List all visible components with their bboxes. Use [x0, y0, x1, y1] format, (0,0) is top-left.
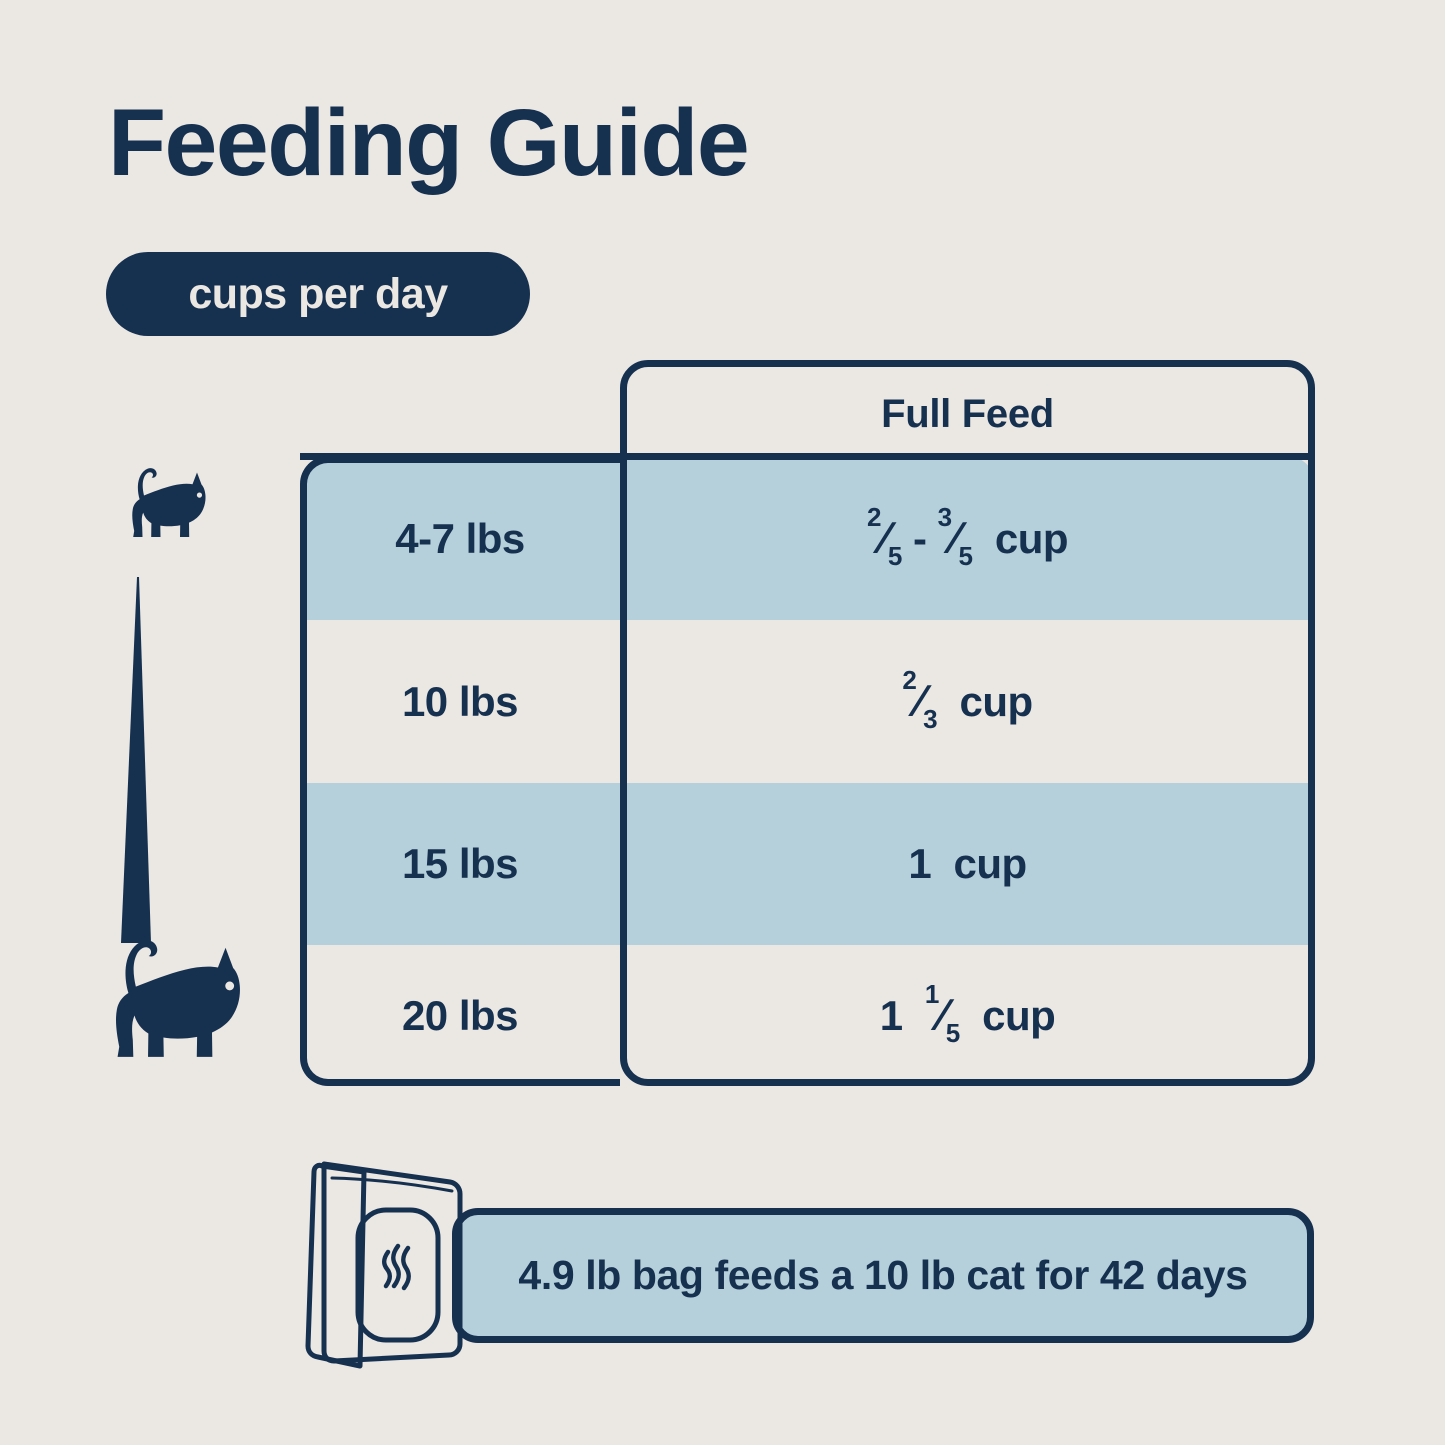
table-cell-weight-1: 10 lbs	[300, 620, 620, 783]
table-cell-weight-3: 20 lbs	[300, 945, 620, 1086]
whole-number: 1	[880, 992, 903, 1039]
size-wedge-icon	[115, 577, 161, 952]
table-cell-feed-3: 1 1⁄5 cup	[620, 945, 1315, 1086]
fraction-value-0: 2⁄5 - 3⁄5 cup	[867, 514, 1068, 564]
table-cell-weight-2: 15 lbs	[300, 783, 620, 945]
fraction-numerator: 1	[925, 979, 939, 1009]
fraction-slash-2: ⁄	[952, 514, 959, 563]
fraction-value-1: 2⁄3 cup	[902, 677, 1032, 727]
range-dash: -	[913, 515, 927, 562]
fraction-value-2: 1 cup	[908, 840, 1026, 888]
bag-duration-text: 4.9 lb bag feeds a 10 lb cat for 42 days	[518, 1252, 1247, 1299]
feeding-guide-infographic: Feeding Guide cups per day	[0, 0, 1445, 1445]
column-header-label: Full Feed	[881, 392, 1054, 437]
fraction-value-3: 1 1⁄5 cup	[880, 991, 1056, 1041]
fraction-numerator-2: 3	[938, 502, 952, 532]
fraction-slash: ⁄	[881, 514, 888, 563]
feed-unit: cup	[982, 992, 1055, 1039]
units-badge: cups per day	[106, 252, 530, 336]
feed-unit: cup	[960, 678, 1033, 725]
cat-walking-icon-small	[113, 465, 213, 548]
page-title: Feeding Guide	[108, 96, 748, 191]
fraction-numerator: 2	[867, 502, 881, 532]
table-cell-feed-2: 1 cup	[620, 783, 1315, 945]
feed-unit: cup	[954, 840, 1027, 887]
bag-duration-banner: 4.9 lb bag feeds a 10 lb cat for 42 days	[452, 1208, 1314, 1343]
feed-unit: cup	[995, 515, 1068, 562]
whole-number: 1	[908, 840, 931, 887]
table-cell-feed-1: 2⁄3 cup	[620, 620, 1315, 783]
table-cell-feed-0: 2⁄5 - 3⁄5 cup	[620, 457, 1315, 620]
fraction-denominator: 5	[888, 541, 902, 571]
units-badge-label: cups per day	[188, 270, 447, 319]
cat-size-scale	[75, 455, 295, 1095]
column-header-full-feed: Full Feed	[620, 375, 1315, 453]
table-cell-weight-0: 4-7 lbs	[300, 457, 620, 620]
food-bag-icon	[302, 1148, 487, 1383]
fraction-denominator-2: 5	[959, 541, 973, 571]
fraction-numerator: 2	[902, 665, 916, 695]
cat-walking-icon-large	[83, 935, 253, 1072]
fraction-denominator: 5	[946, 1018, 960, 1048]
fraction-denominator: 3	[923, 704, 937, 734]
fraction-slash: ⁄	[939, 991, 946, 1040]
